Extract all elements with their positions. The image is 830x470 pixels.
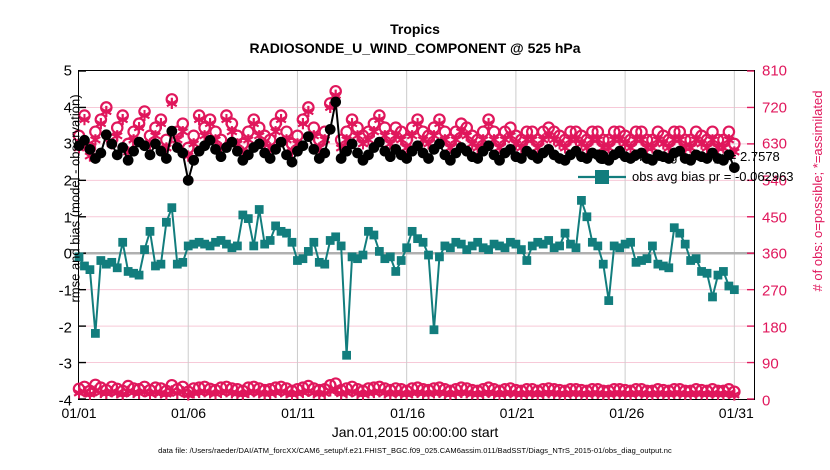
y-right-tick-360: 360	[762, 246, 787, 263]
x-tick-01-31: 01/31	[719, 405, 754, 421]
legend-item-bias: obs avg bias pr = -0.062963	[576, 167, 830, 187]
y-right-tick-270: 270	[762, 283, 787, 300]
legend-marker-rmse-icon	[576, 147, 628, 167]
page-title: Tropics	[0, 20, 830, 38]
y-right-tick-450: 450	[762, 209, 787, 226]
y-right-tick-810: 810	[762, 63, 787, 80]
legend-label-bias: obs avg bias pr = -0.062963	[632, 167, 794, 187]
y-axis-left-label: rmse and bias (model - observation)	[68, 0, 83, 449]
y-axis-right-label: # of obs: o=possible; *=assimilated	[810, 0, 825, 441]
chart-subtitle: RADIOSONDE_U_WIND_COMPONENT @ 525 hPa	[0, 38, 830, 58]
x-tick-01-21: 01/21	[500, 405, 535, 421]
x-tick-01-26: 01/26	[609, 405, 644, 421]
legend-marker-bias-icon	[576, 167, 628, 187]
plot-area: 543210-1-2-3-4 8107206305404503602701809…	[78, 70, 755, 400]
x-tick-01-16: 01/16	[390, 405, 425, 421]
x-tick-01-11: 01/11	[281, 405, 315, 421]
y-right-tick-180: 180	[762, 319, 787, 336]
y-right-tick-720: 720	[762, 99, 787, 116]
legend-item-rmse: obs avg rmse pr = 2.7578	[576, 147, 830, 167]
chart-legend: obs avg rmse pr = 2.7578 obs avg bias pr…	[576, 145, 830, 191]
data-file-footer: data file: /Users/raeder/DAI/ATM_forcXX/…	[0, 446, 830, 455]
y-right-tick-0: 0	[762, 393, 770, 410]
plot-canvas	[79, 71, 754, 399]
y-right-tick-90: 90	[762, 356, 779, 373]
chart-title-block: Tropics RADIOSONDE_U_WIND_COMPONENT @ 52…	[0, 20, 830, 58]
legend-label-rmse: obs avg rmse pr = 2.7578	[632, 147, 780, 167]
x-tick-01-06: 01/06	[171, 405, 206, 421]
x-axis-label: Jan.01,2015 00:00:00 start	[0, 424, 830, 440]
chart-page: Tropics RADIOSONDE_U_WIND_COMPONENT @ 52…	[0, 0, 830, 470]
